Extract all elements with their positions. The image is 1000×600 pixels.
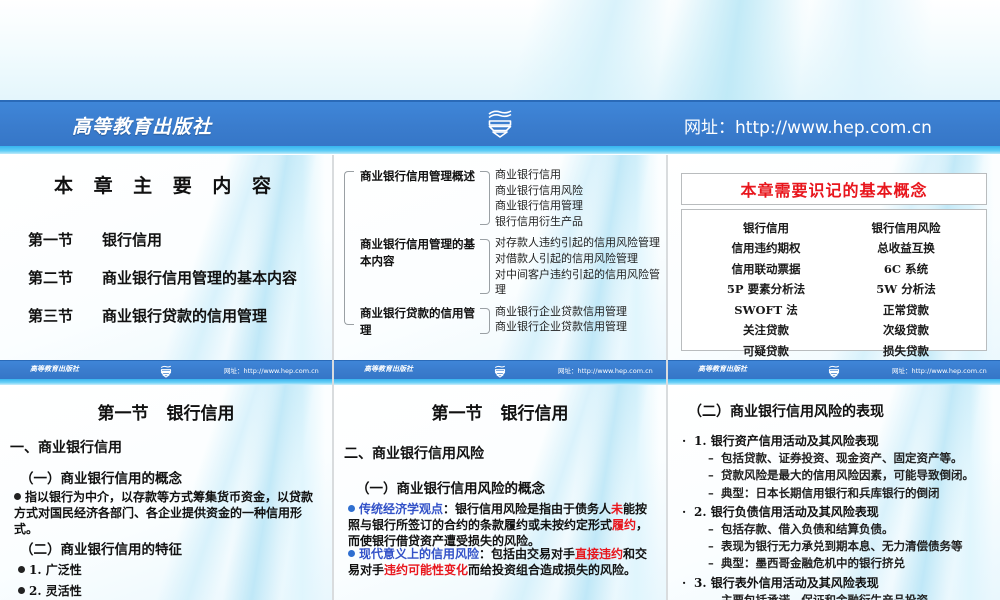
dash-icon: – xyxy=(708,521,721,538)
hep-header-underline xyxy=(0,146,1000,154)
tree-branch-list: 商业银行信用管理概述 商业银行信用 商业银行信用风险 商业银行信用管理 银行信用… xyxy=(360,167,660,338)
tree-leaf: 商业银行信用管理 xyxy=(495,198,660,214)
dash-icon: – xyxy=(708,450,721,467)
content-tree-diagram: 商业银行信用管理概述 商业银行信用 商业银行信用风险 商业银行信用管理 银行信用… xyxy=(344,167,660,344)
group-heading: ·2. 银行负债信用活动及其风险表现 xyxy=(682,503,992,521)
tree-leaf: 商业银行信用 xyxy=(495,167,660,183)
tree-branch: 商业银行贷款的信用管理 商业银行企业贷款信用管理 商业银行企业贷款信用管理 xyxy=(360,304,660,338)
feature-list: 1. 广泛性 2. 灵活性 3. 间接性 xyxy=(18,560,82,600)
concept-item: 5W 分析法 xyxy=(836,279,976,299)
bullet-dot-icon: · xyxy=(682,432,694,450)
highlight-red-a: 未 xyxy=(611,502,623,516)
publisher-logo-text: 高等教育出版社 xyxy=(364,364,413,374)
publisher-logo-text: 高等教育出版社 xyxy=(30,364,79,374)
bullet-dot-icon xyxy=(18,566,25,573)
page-title: 本章需要识记的基本概念 xyxy=(740,177,927,201)
tree-leaf: 银行信用衍生产品 xyxy=(495,214,660,230)
slide-section1-bank-credit[interactable]: 第一节银行信用 一、商业银行信用 （一）商业银行信用的概念 指以银行为中介，以存… xyxy=(0,385,332,600)
hep-header-banner: 高等教育出版社 网址：http://www.hep.com.cn xyxy=(0,100,1000,148)
section-number: 第一节 xyxy=(98,404,149,424)
concept-item: 银行信用风险 xyxy=(836,218,976,238)
heading-level-2: （一）商业银行信用风险的概念 xyxy=(356,477,545,497)
page-title: （二）商业银行信用风险的表现 xyxy=(688,401,884,421)
bullet-dot-icon xyxy=(14,493,21,500)
slide-grid: 本 章 主 要 内 容 第一节 银行信用 第二节 商业银行信用管理的基本内容 第… xyxy=(0,155,1000,600)
section-number: 第三节 xyxy=(28,305,102,326)
concept-item: 可疑贷款 xyxy=(696,341,836,361)
section-list: 第一节 银行信用 第二节 商业银行信用管理的基本内容 第三节 商业银行贷款的信用… xyxy=(28,229,322,343)
group-heading: ·3. 银行表外信用活动及其风险表现 xyxy=(682,574,992,592)
slide-content: （二）商业银行信用风险的表现 ·1. 银行资产信用活动及其风险表现 –包括贷款、… xyxy=(668,385,1000,600)
concept-item: SWOFT 法 xyxy=(696,300,836,320)
sub-item-text: 典型：日本长期信用银行和兵库银行的倒闭 xyxy=(721,486,940,500)
publisher-url-text: 网址：http://www.hep.com.cn xyxy=(224,365,319,375)
section-name: 商业银行信用管理的基本内容 xyxy=(102,267,322,288)
manifestation-group: ·1. 银行资产信用活动及其风险表现 –包括贷款、证券投资、现金资产、固定资产等… xyxy=(682,432,992,502)
paragraph-text: 指以银行为中介，以存款等方式筹集货币资金，以贷款方式对国民经济各部门、各企业提供… xyxy=(14,490,313,536)
concept-item: 关注贷款 xyxy=(696,320,836,340)
heading-level-2: （一）商业银行信用的概念 xyxy=(20,467,182,487)
slide-content: 商业银行信用管理概述 商业银行信用 商业银行信用风险 商业银行信用管理 银行信用… xyxy=(334,155,666,385)
hep-book-emblem-icon xyxy=(485,107,515,143)
bullet-lead-label: 传统经济学观点 xyxy=(359,502,443,516)
slide-content: 第一节银行信用 一、商业银行信用 （一）商业银行信用的概念 指以银行为中介，以存… xyxy=(0,385,332,600)
sub-item-text: 包括存款、借入负债和结算负债。 xyxy=(721,522,894,536)
concept-item: 次级贷款 xyxy=(836,320,976,340)
list-item: 第二节 商业银行信用管理的基本内容 xyxy=(28,267,322,288)
top-background-gradient xyxy=(0,0,1000,100)
key-concepts-title-box: 本章需要识记的基本概念 xyxy=(681,173,987,205)
heading-level-2: （二）商业银行信用的特征 xyxy=(20,538,182,558)
tree-leaf: 对存款人违约引起的信用风险管理 xyxy=(495,235,660,251)
sub-item: –贷款风险是最大的信用风险因素，可能导致倒闭。 xyxy=(682,467,992,484)
tree-leaf-list: 商业银行信用 商业银行信用风险 商业银行信用管理 银行信用衍生产品 xyxy=(495,167,660,229)
bullet-dot-icon: · xyxy=(682,574,694,592)
dash-icon: – xyxy=(708,538,721,555)
section-name: 银行信用 xyxy=(167,404,235,424)
section-name: 银行信用 xyxy=(102,229,322,250)
dash-icon: – xyxy=(708,467,721,484)
list-item: 第三节 商业银行贷款的信用管理 xyxy=(28,305,322,326)
sub-item: –表现为银行无力承兑到期本息、无力清偿债务等 xyxy=(682,538,992,555)
tree-bracket-icon xyxy=(480,171,490,225)
tree-leaf: 对借款人引起的信用风险管理 xyxy=(495,251,660,267)
tree-branch-label: 商业银行信用管理的基本内容 xyxy=(360,235,480,269)
concept-item: 正常贷款 xyxy=(836,300,976,320)
tree-leaf-list: 对存款人违约引起的信用风险管理 对借款人引起的信用风险管理 对中间客户违约引起的… xyxy=(495,235,660,297)
feature-text: 1. 广泛性 xyxy=(29,563,82,577)
slide-footer-banner: 高等教育出版社 网址：http://www.hep.com.cn xyxy=(0,360,332,379)
highlight-red-b: 违约可能性变化 xyxy=(384,563,468,577)
tree-outer-bracket-icon xyxy=(344,171,354,325)
sub-item: –主要包括承诺、保证和金融衍生产品投资 xyxy=(682,592,992,600)
slide-section1-credit-risk[interactable]: 第一节银行信用 二、商业银行信用风险 （一）商业银行信用风险的概念 传统经济学观… xyxy=(334,385,666,600)
definition-bullet-modern: 现代意义上的信用风险：包括由交易对手直接违约和交易对手违约可能性变化而给投资组合… xyxy=(348,546,656,578)
sub-item: –包括贷款、证券投资、现金资产、固定资产等。 xyxy=(682,450,992,467)
slide-chapter-outline[interactable]: 本 章 主 要 内 容 第一节 银行信用 第二节 商业银行信用管理的基本内容 第… xyxy=(0,155,332,385)
heading-level-1: 二、商业银行信用风险 xyxy=(344,443,484,463)
publisher-url-text[interactable]: 网址：http://www.hep.com.cn xyxy=(684,113,932,138)
heading-level-1: 一、商业银行信用 xyxy=(10,437,122,457)
group-heading-text: 3. 银行表外信用活动及其风险表现 xyxy=(694,576,879,590)
sub-item-text: 主要包括承诺、保证和金融衍生产品投资 xyxy=(721,593,928,600)
section-number: 第一节 xyxy=(432,404,483,424)
concept-item: 银行信用 xyxy=(696,218,836,238)
sub-item-text: 贷款风险是最大的信用风险因素，可能导致倒闭。 xyxy=(721,468,974,482)
concept-item: 信用违约期权 xyxy=(696,238,836,258)
sub-item: –典型：墨西哥金融危机中的银行挤兑 xyxy=(682,555,992,572)
publisher-logo-text: 高等教育出版社 xyxy=(698,364,747,374)
bullet-body-c: 而给投资组合造成损失的风险。 xyxy=(468,563,636,577)
concept-item: 5P 要素分析法 xyxy=(696,279,836,299)
tree-branch-label: 商业银行信用管理概述 xyxy=(360,167,480,185)
bullet-dot-icon xyxy=(348,550,355,557)
dash-icon: – xyxy=(708,592,721,600)
definition-bullet-traditional: 传统经济学观点：银行信用风险是指由于债务人未能按照与银行所签订的合约的条款履约或… xyxy=(348,501,656,549)
bullet-body-a: ：银行信用风险是指由于债务人 xyxy=(443,502,611,516)
list-item: 1. 广泛性 xyxy=(18,560,82,581)
tree-bracket-icon xyxy=(480,239,490,293)
sub-item-text: 表现为银行无力承兑到期本息、无力清偿债务等 xyxy=(721,539,963,553)
feature-text: 2. 灵活性 xyxy=(29,584,82,598)
publisher-url-text: 网址：http://www.hep.com.cn xyxy=(558,365,653,375)
sub-item: –典型：日本长期信用银行和兵库银行的倒闭 xyxy=(682,485,992,502)
bullet-dot-icon xyxy=(348,505,355,512)
bullet-body-a: ：包括由交易对手 xyxy=(479,547,575,561)
tree-branch: 商业银行信用管理的基本内容 对存款人违约引起的信用风险管理 对借款人引起的信用风… xyxy=(360,235,660,297)
slide-content: 第一节银行信用 二、商业银行信用风险 （一）商业银行信用风险的概念 传统经济学观… xyxy=(334,385,666,600)
tree-leaf: 商业银行信用风险 xyxy=(495,183,660,199)
tree-leaf: 对中间客户违约引起的信用风险管理 xyxy=(495,267,660,298)
slide-content: 本章需要识记的基本概念 银行信用 银行信用风险 信用违约期权 总收益互换 信用联… xyxy=(668,155,1000,385)
tree-leaf-list: 商业银行企业贷款信用管理 商业银行企业贷款信用管理 xyxy=(495,304,660,335)
manifestation-group: ·3. 银行表外信用活动及其风险表现 –主要包括承诺、保证和金融衍生产品投资 –… xyxy=(682,574,992,600)
slide-content: 本 章 主 要 内 容 第一节 银行信用 第二节 商业银行信用管理的基本内容 第… xyxy=(0,155,332,385)
bullet-lead-label: 现代意义上的信用风险 xyxy=(359,547,479,561)
section-number: 第二节 xyxy=(28,267,102,288)
concept-item: 6C 系统 xyxy=(836,259,976,279)
key-concepts-box: 银行信用 银行信用风险 信用违约期权 总收益互换 信用联动票据 6C 系统 5P… xyxy=(681,209,987,351)
manifestation-group-list: ·1. 银行资产信用活动及其风险表现 –包括贷款、证券投资、现金资产、固定资产等… xyxy=(682,431,992,600)
publisher-url-text: 网址：http://www.hep.com.cn xyxy=(892,365,987,375)
tree-branch-label: 商业银行贷款的信用管理 xyxy=(360,304,480,338)
group-heading-text: 2. 银行负债信用活动及其风险表现 xyxy=(694,505,879,519)
sub-item: –包括存款、借入负债和结算负债。 xyxy=(682,521,992,538)
sub-item-text: 典型：墨西哥金融危机中的银行挤兑 xyxy=(721,556,905,570)
concept-item: 信用联动票据 xyxy=(696,259,836,279)
slide-sheet-page: 高等教育出版社 网址：http://www.hep.com.cn 本 章 主 要… xyxy=(0,0,1000,600)
sub-item-text: 包括贷款、证券投资、现金资产、固定资产等。 xyxy=(721,451,963,465)
slide-footer-banner: 高等教育出版社 网址：http://www.hep.com.cn xyxy=(668,360,1000,379)
list-item: 2. 灵活性 xyxy=(18,581,82,600)
highlight-red-a: 直接违约 xyxy=(575,547,623,561)
dash-icon: – xyxy=(708,555,721,572)
concept-paragraph: 指以银行为中介，以存款等方式筹集货币资金，以贷款方式对国民经济各部门、各企业提供… xyxy=(14,489,324,537)
bullet-dot-icon xyxy=(18,587,25,594)
list-item: 第一节 银行信用 xyxy=(28,229,322,250)
slide-footer-banner: 高等教育出版社 网址：http://www.hep.com.cn xyxy=(334,360,666,379)
tree-bracket-icon xyxy=(480,308,490,334)
group-heading-text: 1. 银行资产信用活动及其风险表现 xyxy=(694,434,879,448)
concept-item: 损失贷款 xyxy=(836,341,976,361)
manifestation-group: ·2. 银行负债信用活动及其风险表现 –包括存款、借入负债和结算负债。 –表现为… xyxy=(682,503,992,573)
slide-key-concepts[interactable]: 本章需要识记的基本概念 银行信用 银行信用风险 信用违约期权 总收益互换 信用联… xyxy=(668,155,1000,385)
page-title: 第一节银行信用 xyxy=(334,399,666,424)
dash-icon: – xyxy=(708,485,721,502)
highlight-red-b: 履约 xyxy=(612,518,636,532)
section-name: 银行信用 xyxy=(501,404,569,424)
section-number: 第一节 xyxy=(28,229,102,250)
group-heading: ·1. 银行资产信用活动及其风险表现 xyxy=(682,432,992,450)
page-title: 本 章 主 要 内 容 xyxy=(0,171,332,198)
tree-leaf: 商业银行企业贷款信用管理 xyxy=(495,304,660,320)
section-name: 商业银行贷款的信用管理 xyxy=(102,305,322,326)
tree-leaf: 商业银行企业贷款信用管理 xyxy=(495,319,660,335)
tree-branch: 商业银行信用管理概述 商业银行信用 商业银行信用风险 商业银行信用管理 银行信用… xyxy=(360,167,660,229)
slide-content-tree[interactable]: 商业银行信用管理概述 商业银行信用 商业银行信用风险 商业银行信用管理 银行信用… xyxy=(334,155,666,385)
bullet-dot-icon: · xyxy=(682,503,694,521)
slide-credit-risk-manifestations[interactable]: （二）商业银行信用风险的表现 ·1. 银行资产信用活动及其风险表现 –包括贷款、… xyxy=(668,385,1000,600)
concept-item: 总收益互换 xyxy=(836,238,976,258)
publisher-logo-text: 高等教育出版社 xyxy=(72,112,212,139)
page-title: 第一节银行信用 xyxy=(0,399,332,424)
